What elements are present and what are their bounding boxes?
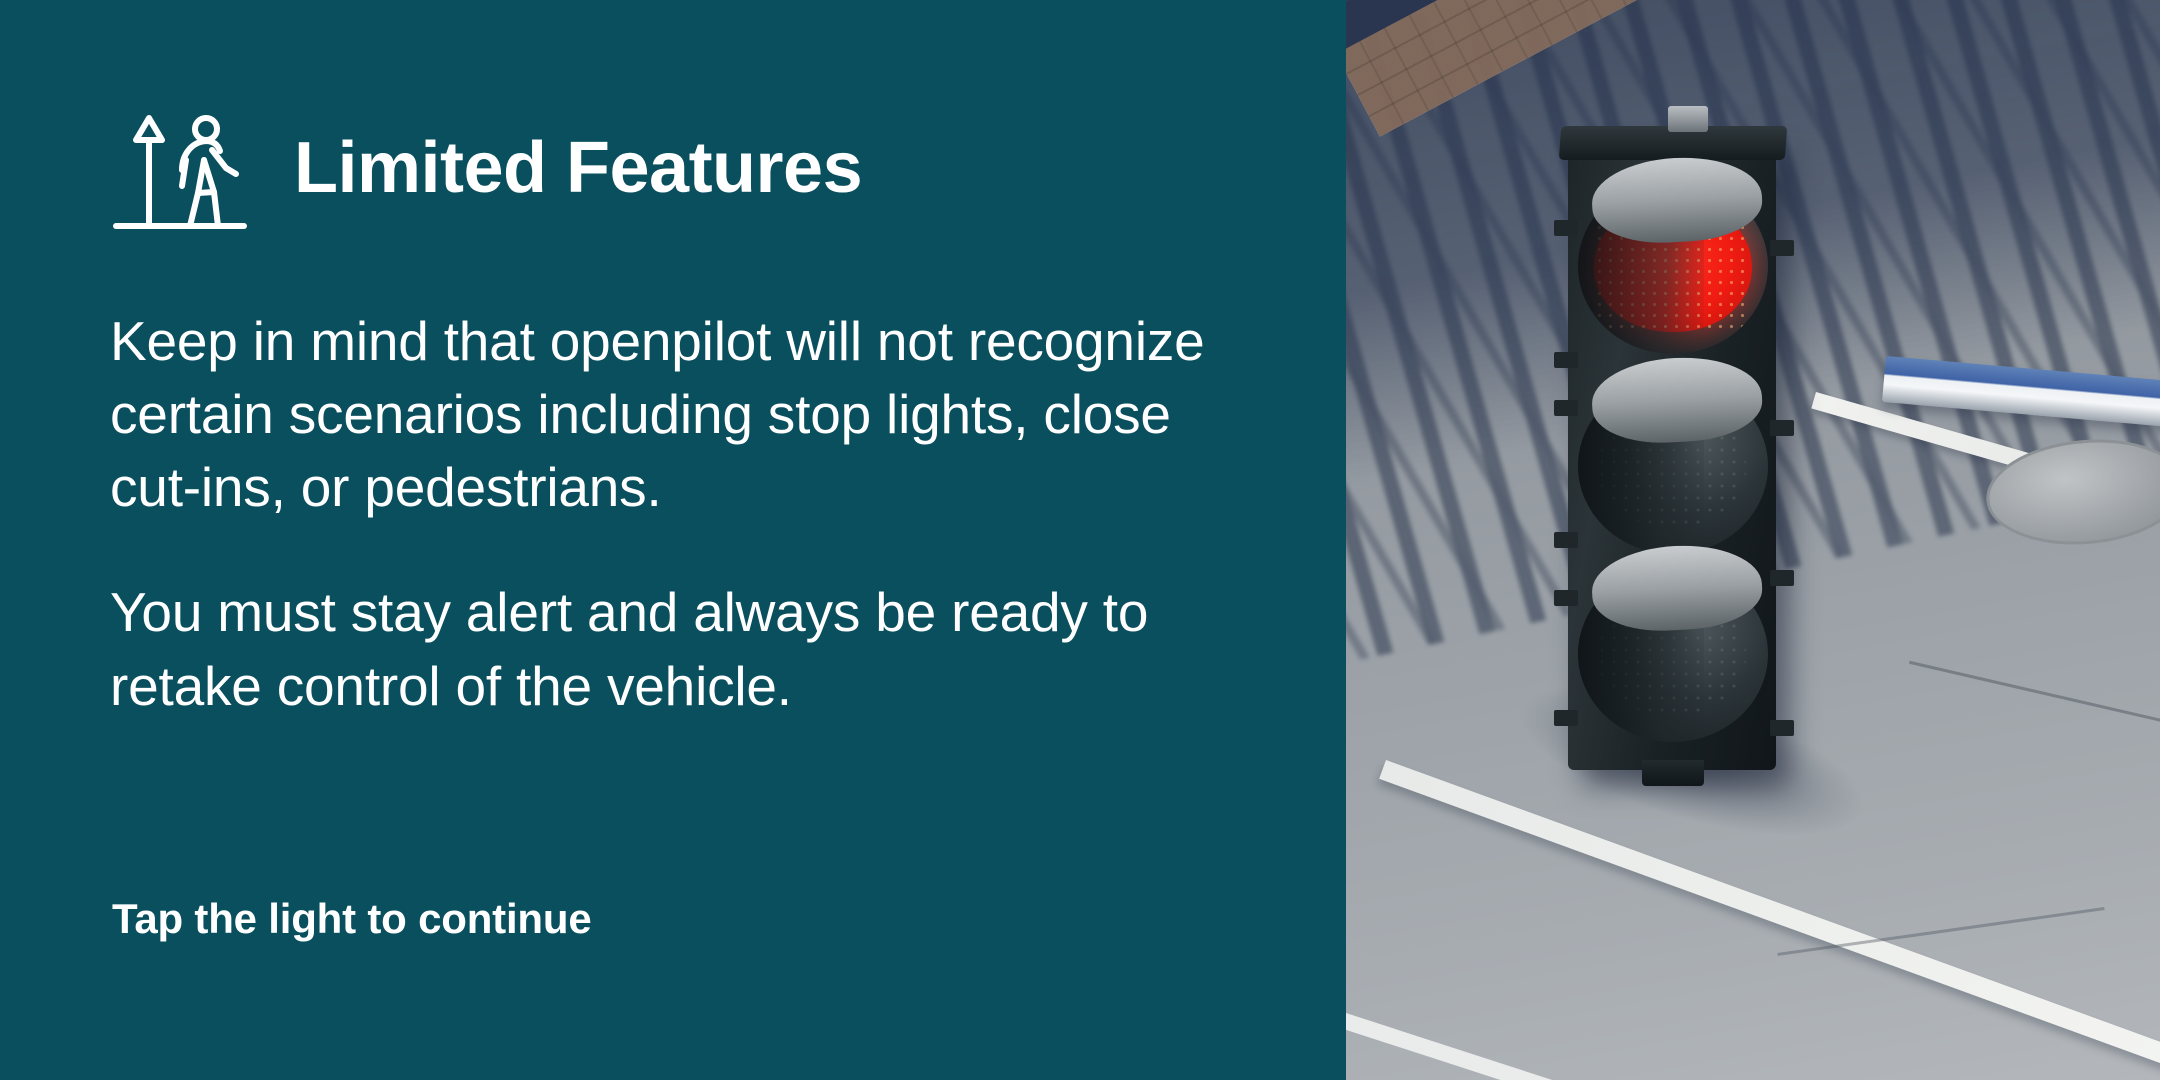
traffic-light[interactable]	[1532, 100, 1832, 800]
housing-bracket	[1554, 400, 1578, 416]
traffic-light-antenna	[1668, 106, 1708, 132]
housing-bracket	[1554, 710, 1578, 726]
housing-bracket	[1554, 532, 1578, 548]
housing-bracket	[1554, 352, 1578, 368]
paragraph-stay-alert: You must stay alert and always be ready …	[110, 576, 1260, 722]
body-text: Keep in mind that openpilot will not rec…	[110, 305, 1270, 723]
housing-bracket	[1554, 590, 1578, 606]
housing-bracket	[1770, 720, 1794, 736]
info-panel: Limited Features Keep in mind that openp…	[0, 0, 1346, 1080]
housing-bracket	[1770, 570, 1794, 586]
traffic-light-base	[1642, 760, 1704, 786]
traffic-light-photo[interactable]	[1346, 0, 2160, 1080]
housing-bracket	[1554, 220, 1578, 236]
onboarding-screen: Limited Features Keep in mind that openp…	[0, 0, 2160, 1080]
paragraph-limitations: Keep in mind that openpilot will not rec…	[110, 305, 1260, 524]
pedestrian-crossing-icon	[110, 98, 250, 238]
housing-bracket	[1770, 240, 1794, 256]
housing-bracket	[1770, 420, 1794, 436]
header-row: Limited Features	[110, 98, 862, 238]
page-title: Limited Features	[294, 132, 862, 204]
tap-hint: Tap the light to continue	[112, 895, 592, 943]
